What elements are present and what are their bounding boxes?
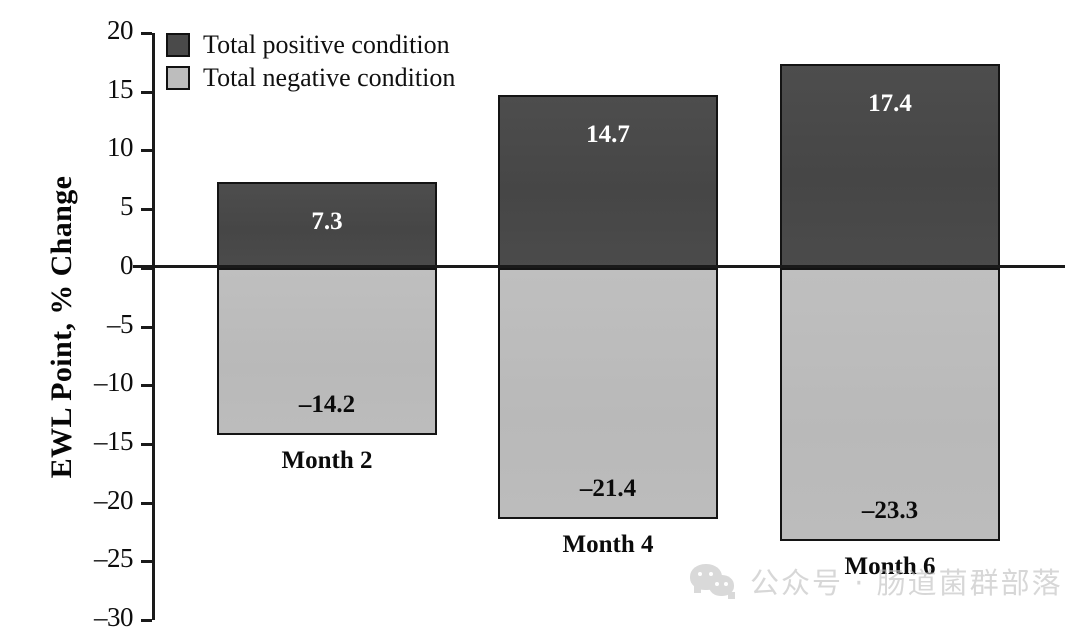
y-tick-label: 5 [120, 191, 133, 222]
y-axis-spine [152, 33, 155, 620]
y-tick-label: –25 [94, 543, 133, 574]
y-tick-label: 10 [107, 132, 133, 163]
y-tick-label: –15 [94, 426, 133, 457]
light-gray-swatch-icon [166, 66, 190, 90]
x-category-label: Month 2 [217, 447, 437, 475]
wechat-icon [690, 564, 736, 598]
bar-value-label: –14.2 [219, 391, 435, 419]
y-tick [141, 149, 152, 152]
y-tick-label: –20 [94, 485, 133, 516]
y-tick-label: –5 [107, 309, 133, 340]
y-tick-label: 20 [107, 15, 133, 46]
bar-positive: 7.3 [217, 182, 437, 270]
bar-positive: 14.7 [498, 95, 718, 270]
y-tick [141, 32, 152, 35]
y-tick-label: –10 [94, 367, 133, 398]
dark-gray-swatch-icon [166, 33, 190, 57]
x-category-label: Month 4 [498, 531, 718, 559]
bar-value-label: 14.7 [500, 121, 716, 149]
y-tick-label: 0 [120, 250, 133, 281]
watermark: 公众号 · 肠道菌群部落 [690, 560, 1063, 602]
legend-label-negative: Total negative condition [203, 63, 455, 93]
chart-legend: Total positive condition Total negative … [166, 28, 455, 94]
y-tick-label: 15 [107, 74, 133, 105]
bar-value-label: –23.3 [782, 497, 998, 525]
bar-value-label: –21.4 [500, 475, 716, 503]
legend-item-positive: Total positive condition [166, 28, 455, 61]
legend-label-positive: Total positive condition [203, 30, 450, 60]
bar-positive: 17.4 [780, 64, 1000, 270]
bar-negative: –14.2 [217, 268, 437, 435]
watermark-text: 公众号 · 肠道菌群部落 [750, 560, 1063, 602]
y-axis-title: EWL Point, % Change [45, 97, 79, 557]
y-tick [141, 91, 152, 94]
y-tick [141, 560, 152, 563]
bar-negative: –21.4 [498, 268, 718, 519]
zero-baseline [133, 265, 1065, 268]
y-tick [141, 443, 152, 446]
bar-negative: –23.3 [780, 268, 1000, 542]
y-tick [141, 326, 152, 329]
y-tick [141, 384, 152, 387]
y-tick [141, 619, 152, 622]
bar-value-label: 7.3 [219, 208, 435, 236]
chart-canvas: EWL Point, % Change 20151050–5–10–15–20–… [0, 0, 1080, 632]
legend-item-negative: Total negative condition [166, 61, 455, 94]
y-tick [141, 208, 152, 211]
y-tick-label: –30 [94, 602, 133, 633]
y-tick [141, 502, 152, 505]
bar-value-label: 17.4 [782, 90, 998, 118]
